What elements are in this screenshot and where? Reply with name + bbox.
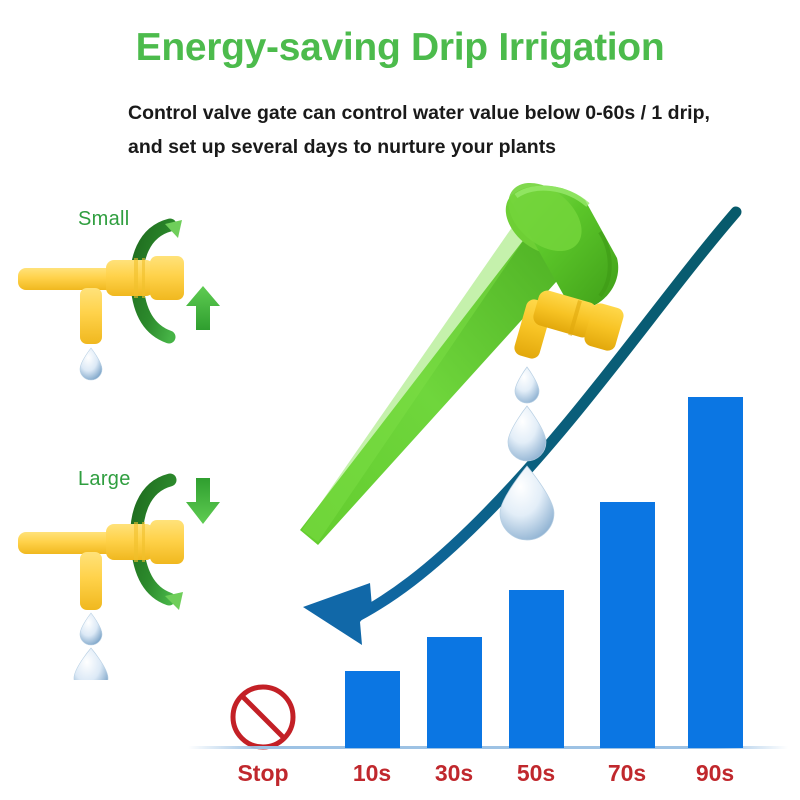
valve-demo-small: Small <box>0 190 280 390</box>
water-drop-icon <box>80 348 102 380</box>
rotation-arrow-down-icon <box>186 478 220 524</box>
x-label-90s: 90s <box>665 760 765 787</box>
drip-spike-product <box>300 169 618 545</box>
water-drop-icon <box>74 648 108 680</box>
water-drop-icon <box>80 613 102 645</box>
x-label-70s: 70s <box>577 760 677 787</box>
page-title: Energy-saving Drip Irrigation <box>0 26 800 70</box>
rotation-arrow-up-icon <box>186 286 220 330</box>
valve-small-illustration <box>0 190 280 390</box>
bar-70s <box>600 502 655 748</box>
valve-demo-large: Large <box>0 450 280 680</box>
prohibition-icon <box>233 687 293 747</box>
x-label-50s: 50s <box>486 760 586 787</box>
subtitle-line-2: and set up several days to nurture your … <box>128 130 728 164</box>
valve-body-product <box>513 288 626 360</box>
page-subtitle: Control valve gate can control water val… <box>128 96 728 164</box>
water-drop-icon <box>500 466 554 540</box>
bar-10s <box>345 671 400 748</box>
curved-arrow-icon <box>303 212 736 645</box>
valve-large-illustration <box>0 450 280 680</box>
bar-50s <box>509 590 564 748</box>
water-drop-icon <box>508 406 546 461</box>
water-drop-icon <box>515 367 539 403</box>
bar-90s <box>688 397 743 748</box>
infographic-root: Energy-saving Drip Irrigation Control va… <box>0 0 800 800</box>
subtitle-line-1: Control valve gate can control water val… <box>128 102 710 124</box>
bar-30s <box>427 637 482 748</box>
x-label-stop: Stop <box>213 760 313 787</box>
